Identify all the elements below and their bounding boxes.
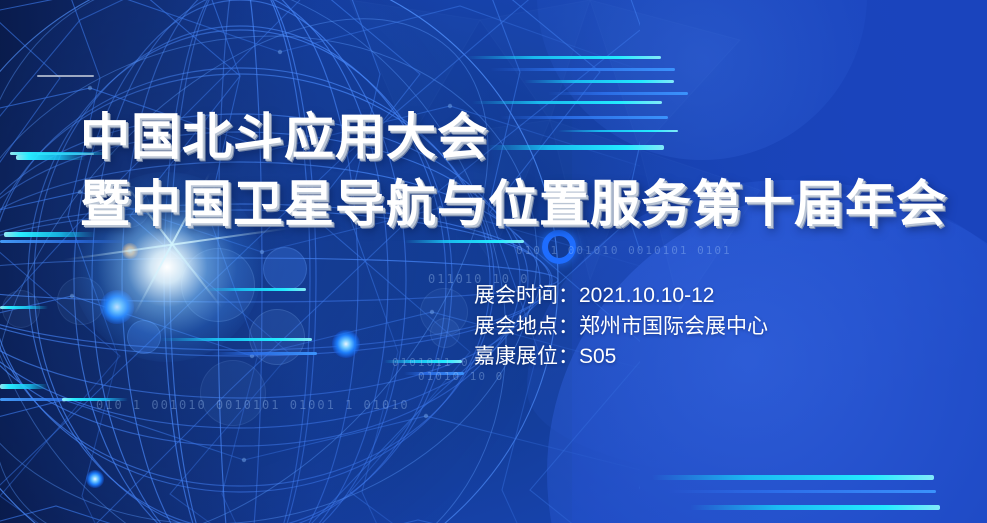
streak-line <box>548 92 688 95</box>
event-info-block: 展会时间：2021.10.10-12 展会地点：郑州市国际会展中心 嘉康展位：S… <box>474 281 768 373</box>
streak-line <box>490 68 675 71</box>
streak-line <box>206 288 306 291</box>
streak-line <box>466 56 661 59</box>
glow-dot <box>332 330 360 358</box>
streak-line <box>472 101 662 104</box>
streak-line <box>690 505 940 510</box>
binary-text: 010 1 001010 0010101 0101 <box>516 244 732 257</box>
event-date-line: 展会时间：2021.10.10-12 <box>474 281 768 312</box>
title-line-2: 暨中国卫星导航与位置服务第十届年会 <box>80 175 947 234</box>
streak-line <box>524 80 674 83</box>
conference-banner: 011010 10 0 0101011 0 010 1 001010 00101… <box>0 0 987 523</box>
bokeh-circle <box>249 309 305 365</box>
event-venue-line: 展会地点：郑州市国际会展中心 <box>474 312 768 343</box>
bokeh-circle <box>263 247 307 291</box>
streak-line <box>160 338 312 341</box>
bokeh-circle <box>200 360 266 426</box>
binary-text: 010 1 001010 0010101 01001 1 01010 <box>96 398 410 412</box>
binary-text: 0101011 0 <box>392 356 470 369</box>
streak-line <box>404 240 524 243</box>
banner-title: 中国北斗应用大会 暨中国卫星导航与位置服务第十届年会 <box>80 108 947 234</box>
title-line-1: 中国北斗应用大会 <box>80 108 947 167</box>
streak-line <box>0 240 130 243</box>
streak-line <box>0 384 48 389</box>
bokeh-circle <box>2 290 40 328</box>
streak-line <box>652 475 934 480</box>
streak-line <box>37 75 94 77</box>
event-booth-line: 嘉康展位：S05 <box>474 342 768 373</box>
streak-line <box>668 490 936 493</box>
streak-line <box>212 352 317 355</box>
streak-line <box>0 306 48 309</box>
bokeh-circle <box>430 318 460 348</box>
glow-dot <box>86 470 104 488</box>
streak-line <box>16 155 86 160</box>
